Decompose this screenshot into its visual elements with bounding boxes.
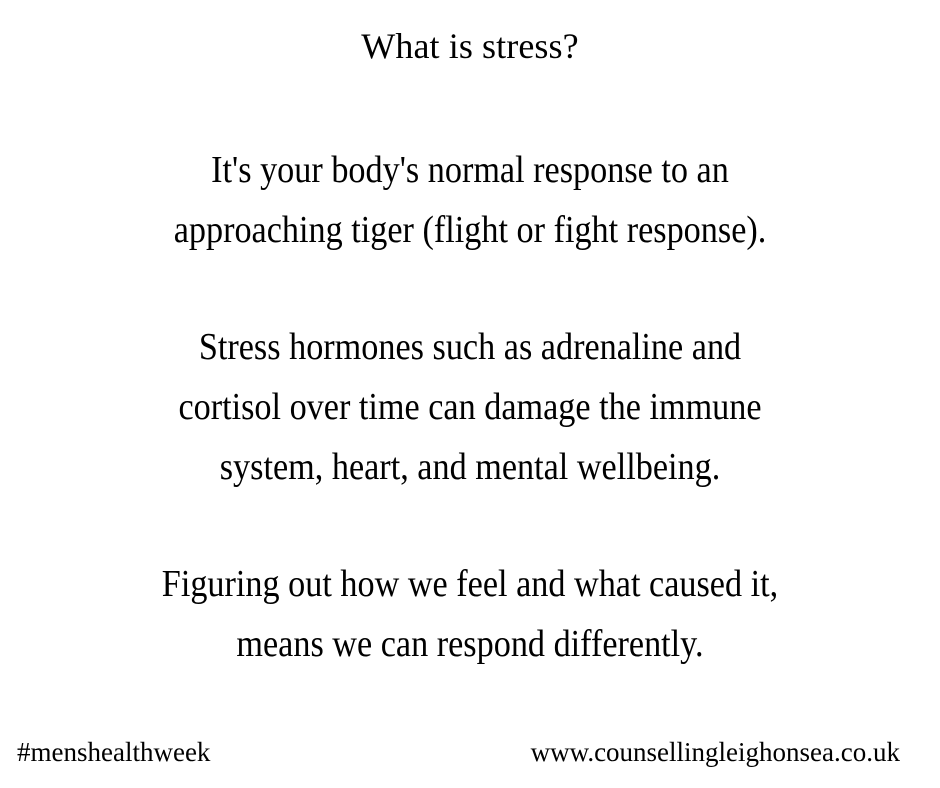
- poster-canvas: What is stress? It's your body's normal …: [0, 0, 940, 788]
- paragraph-line: system, heart, and mental wellbeing.: [74, 437, 866, 497]
- paragraph-line: It's your body's normal response to an: [74, 140, 866, 200]
- paragraph-hormones: Stress hormones such as adrenaline and c…: [30, 317, 910, 497]
- paragraph-line: Stress hormones such as adrenaline and: [74, 317, 866, 377]
- paragraph-response: Figuring out how we feel and what caused…: [30, 554, 910, 674]
- body-text-block: It's your body's normal response to an a…: [30, 140, 910, 674]
- paragraph-definition: It's your body's normal response to an a…: [30, 140, 910, 260]
- paragraph-line: approaching tiger (flight or fight respo…: [74, 200, 866, 260]
- paragraph-line: cortisol over time can damage the immune: [74, 377, 866, 437]
- footer-hashtag: #menshealthweek: [17, 735, 210, 769]
- page-title: What is stress?: [0, 24, 940, 68]
- paragraph-line: Figuring out how we feel and what caused…: [74, 554, 866, 614]
- footer: #menshealthweek www.counsellingleighonse…: [0, 735, 940, 775]
- paragraph-line: means we can respond differently.: [74, 614, 866, 674]
- footer-website-url: www.counsellingleighonsea.co.uk: [531, 735, 900, 769]
